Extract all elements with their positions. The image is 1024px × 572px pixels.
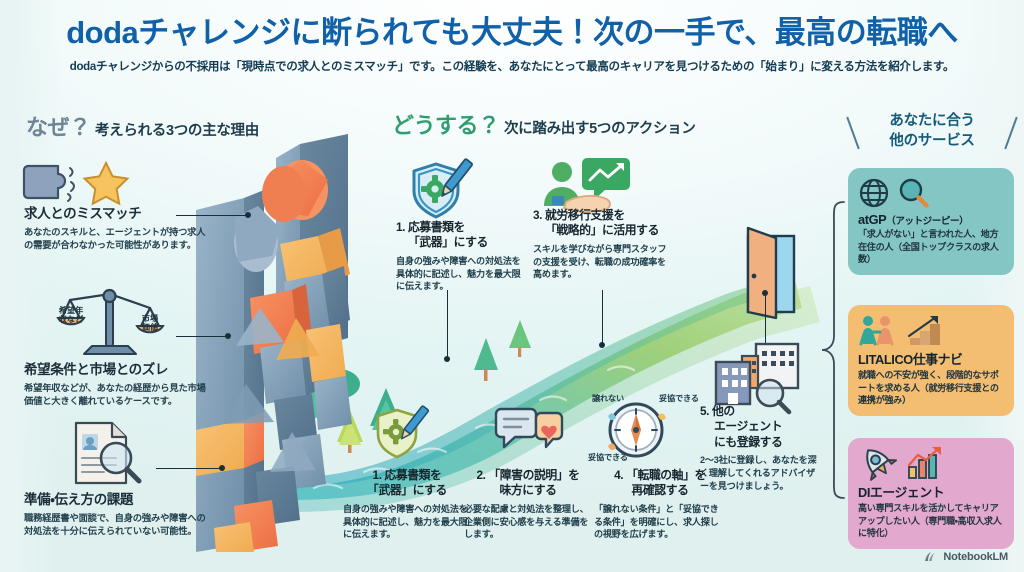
page-subtitle: dodaチャレンジからの不採用は「現時点での求人とのミスマッチ」です。この経験を… bbox=[0, 58, 1024, 74]
action-top-1-title-line2: 「武器」にする bbox=[396, 235, 526, 250]
action-bottom-1-title-line1: 応募書類を bbox=[384, 468, 441, 482]
stairs-arrow-icon bbox=[906, 314, 944, 346]
reason-2-title: 希望条件と市場とのズレ bbox=[24, 362, 210, 379]
action-top-3: 3. 就労移行支援を 「戦略的」に活用する スキルを学びながら専門スタッフの支援… bbox=[533, 208, 669, 281]
reason-1-body: あなたのスキルと、エージェントが持つ求人の需要が合わなかった可能性があります。 bbox=[24, 226, 210, 253]
action-bottom-2-body: 必要な配慮と対処法を整理し、企業側に安心感を与える準備をします。 bbox=[464, 503, 592, 542]
services-label-line2: 他のサービス bbox=[846, 132, 1018, 152]
action-5-num: 5. bbox=[700, 404, 709, 418]
rocket-icon bbox=[858, 446, 898, 480]
action-bottom-2-title: 2. 「障害の説明」を 味方にする bbox=[464, 468, 592, 499]
speech-heart-icon bbox=[494, 408, 566, 460]
open-door-icon bbox=[748, 228, 794, 318]
atgp-name: atGP（アットジーピー） bbox=[858, 212, 1004, 227]
action-bottom-2-title-line1: 「障害の説明」を bbox=[488, 468, 579, 482]
action-top-1-title-line1: 応募書類を bbox=[408, 220, 465, 234]
action-bottom-1-body: 自身の強みや障害への対処法を具体的に記述し、魅力を最大限に伝えます。 bbox=[343, 503, 471, 542]
atgp-name-main: atGP bbox=[858, 212, 886, 227]
action-bottom-1-title: 1. 応募書類を 「武器」にする bbox=[343, 468, 471, 499]
action-top-3-title: 3. 就労移行支援を 「戦略的」に活用する bbox=[533, 208, 669, 239]
atgp-icons bbox=[858, 176, 1004, 210]
svg-text:収など: 収など bbox=[59, 314, 84, 324]
svg-text:市場: 市場 bbox=[142, 313, 159, 323]
action-top-1-body: 自身の強みや障害への対処法を具体的に記述し、魅力を最大限に伝えます。 bbox=[396, 255, 526, 294]
service-card-atgp[interactable]: atGP（アットジーピー） 「求人がない」と言われた人、地方在住の人（全国トップ… bbox=[848, 168, 1014, 275]
why-label: なぜ？ bbox=[26, 115, 91, 140]
reason-3-body: 職務経歴書や面談で、自身の強みや障害への対処法を十分に伝えられていない可能性。 bbox=[24, 512, 210, 539]
compass-label-left: 譲れない bbox=[592, 392, 624, 404]
action-5-title: 5. 他の エージェント にも登録する bbox=[700, 404, 820, 450]
action-top-1: 1. 応募書類を 「武器」にする 自身の強みや障害への対処法を具体的に記述し、魅… bbox=[396, 220, 526, 293]
litalico-icons bbox=[858, 313, 1004, 347]
compass-label-right: 妥協できる bbox=[659, 392, 699, 404]
section-heading-services: あなたに合う 他のサービス bbox=[846, 112, 1018, 151]
bar-chart-arrow-icon bbox=[906, 446, 946, 480]
compass-label-bottom: 妥協できる bbox=[588, 451, 628, 463]
action-top-3-title-line1: 就労移行支援を bbox=[545, 208, 625, 222]
atgp-name-paren: （アットジーピー） bbox=[886, 216, 968, 227]
reason-block-3: 準備・伝え方の課題 職務経歴書や面談で、自身の強みや障害への対処法を十分に伝えら… bbox=[24, 492, 210, 539]
svg-text:希望年: 希望年 bbox=[59, 305, 84, 315]
puzzle-star-icon bbox=[22, 160, 140, 206]
action-top-3-title-line2: 「戦略的」に活用する bbox=[533, 223, 669, 238]
footer-label: NotebookLM bbox=[943, 551, 1008, 563]
brace-decoration bbox=[820, 200, 846, 500]
how-sublabel: 次に踏み出す5つのアクション bbox=[504, 121, 696, 137]
connector-line-top-3 bbox=[602, 290, 603, 346]
action-bottom-4-title-line1: 「転職の軸」を bbox=[626, 468, 706, 482]
service-card-di-agent[interactable]: DIエージェント 高い専門スキルを活かしてキャリアアップしたい人（専門職・高収入… bbox=[848, 438, 1014, 549]
leader-line-2 bbox=[176, 336, 228, 337]
atgp-body: 「求人がない」と言われた人、地方在住の人（全国トップクラスの求人数） bbox=[858, 228, 1004, 266]
reason-3-title: 準備・伝え方の課題 bbox=[24, 492, 210, 509]
how-label: どうする？ bbox=[392, 113, 500, 138]
leader-line-1 bbox=[176, 215, 248, 216]
notebooklm-icon bbox=[923, 549, 938, 564]
service-card-litalico[interactable]: LITALICO仕事ナビ 就職への不安が強く、段階的なサポートを求める人（就労移… bbox=[848, 305, 1014, 416]
footer: NotebookLM bbox=[923, 549, 1008, 564]
reason-2-body: 希望年収などが、あなたの経歴から見た市場価値と大きく離れているケースです。 bbox=[24, 382, 210, 409]
action-bottom-4-num: 4. bbox=[614, 468, 623, 482]
action-5-body: 2〜3社に登録し、あなたを深く理解してくれるアドバイザーを見つけましょう。 bbox=[700, 454, 820, 493]
section-heading-why: なぜ？ 考えられる3つの主な理由 bbox=[26, 110, 259, 142]
globe-icon bbox=[858, 177, 890, 209]
reason-block-2: 希望条件と市場とのズレ 希望年収などが、あなたの経歴から見た市場価値と大きく離れ… bbox=[24, 362, 210, 409]
action-bottom-1-title-line2: 「武器」にする bbox=[343, 483, 471, 498]
section-heading-how: どうする？ 次に踏み出す5つのアクション bbox=[392, 108, 696, 140]
resume-magnifier-icon bbox=[72, 420, 146, 486]
infographic-page: dodaチャレンジに断られても大丈夫！次の一手で、最高の転職へ dodaチャレン… bbox=[0, 0, 1024, 572]
leader-line-3 bbox=[156, 468, 222, 469]
action-bottom-2-title-line2: 味方にする bbox=[464, 483, 592, 498]
action-bottom-1-num: 1. bbox=[373, 468, 382, 482]
action-top-1-num: 1. bbox=[396, 220, 405, 234]
shield-gear-pencil-icon bbox=[374, 408, 428, 460]
svg-text:価値: 価値 bbox=[141, 322, 159, 332]
di-body: 高い専門スキルを活かしてキャリアアップしたい人（専門職・高収入求人に特化） bbox=[858, 502, 1004, 540]
connector-line-top-1 bbox=[447, 290, 448, 360]
action-5-title-line3: にも登録する bbox=[700, 435, 820, 450]
action-top-3-body: スキルを学びながら専門スタッフの支援を受け、転職の成功確率を高めます。 bbox=[533, 243, 669, 282]
action-top-3-num: 3. bbox=[533, 208, 542, 222]
action-bottom-1: 1. 応募書類を 「武器」にする 自身の強みや障害への対処法を具体的に記述し、魅… bbox=[343, 468, 471, 541]
di-name: DIエージェント bbox=[858, 482, 1004, 501]
action-5: 5. 他の エージェント にも登録する 2〜3社に登録し、あなたを深く理解してく… bbox=[700, 404, 820, 493]
di-icons bbox=[858, 446, 1004, 480]
action-5-title-line2: エージェント bbox=[700, 419, 820, 434]
reason-block-1: 求人とのミスマッチ あなたのスキルと、エージェントが持つ求人の需要が合わなかった… bbox=[24, 206, 210, 253]
action-bottom-2: 2. 「障害の説明」を 味方にする 必要な配慮と対処法を整理し、企業側に安心感を… bbox=[464, 468, 592, 541]
services-label-line1: あなたに合う bbox=[846, 112, 1018, 132]
why-sublabel: 考えられる3つの主な理由 bbox=[95, 123, 259, 139]
litalico-name: LITALICO仕事ナビ bbox=[858, 349, 1004, 368]
shield-gear-pencil-icon bbox=[410, 162, 472, 220]
buildings-magnifier-icon bbox=[712, 340, 808, 408]
action-bottom-2-num: 2. bbox=[476, 468, 485, 482]
two-people-icon bbox=[858, 314, 898, 346]
page-title: dodaチャレンジに断られても大丈夫！次の一手で、最高の転職へ bbox=[0, 16, 1024, 51]
action-bottom-4-body: 「譲れない条件」と「妥協できる条件」を明確にし、求人探しの視野を広げます。 bbox=[594, 503, 726, 542]
action-top-1-title: 1. 応募書類を 「武器」にする bbox=[396, 220, 526, 251]
header: dodaチャレンジに断られても大丈夫！次の一手で、最高の転職へ dodaチャレン… bbox=[0, 16, 1024, 74]
balance-scale-icon: 希望年 収など 市場 価値 bbox=[56, 286, 162, 358]
action-5-title-line1: 他の bbox=[712, 404, 735, 418]
litalico-body: 就職への不安が強く、段階的なサポートを求める人（就労移行支援との連携が強み） bbox=[858, 369, 1004, 407]
magnifier-icon bbox=[898, 177, 930, 209]
